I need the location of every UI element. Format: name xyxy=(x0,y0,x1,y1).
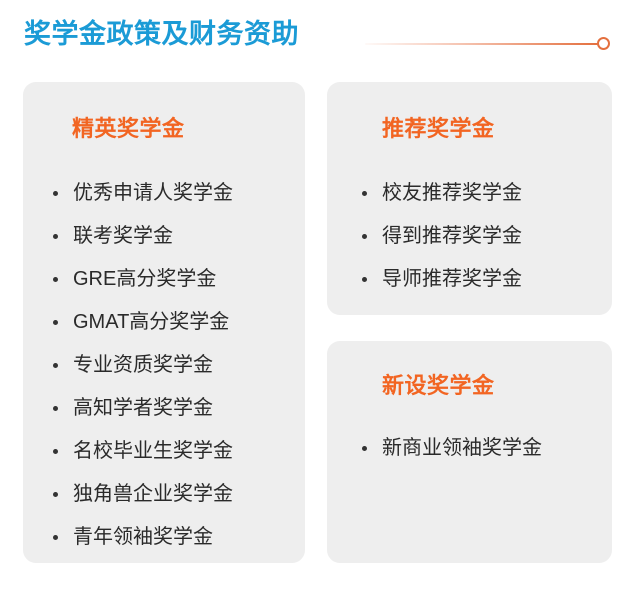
bullet-dot-icon xyxy=(53,234,58,239)
bullet-dot-icon xyxy=(53,535,58,540)
bullet-dot-icon xyxy=(53,277,58,282)
list-item: 优秀申请人奖学金 xyxy=(51,172,233,215)
bullet-dot-icon xyxy=(53,363,58,368)
card-heading-new: 新设奖学金 xyxy=(382,373,495,399)
card-elite-scholarship: 精英奖学金 优秀申请人奖学金 联考奖学金 GRE高分奖学金 GMAT高分奖学金 … xyxy=(23,82,305,563)
list-item-label: GRE高分奖学金 xyxy=(73,258,216,301)
list-item: 独角兽企业奖学金 xyxy=(51,473,233,516)
bullet-dot-icon xyxy=(362,234,367,239)
bullet-dot-icon xyxy=(53,406,58,411)
list-item: 新商业领袖奖学金 xyxy=(360,427,542,470)
list-item: 校友推荐奖学金 xyxy=(360,172,522,215)
list-item-label: 专业资质奖学金 xyxy=(73,344,213,387)
bullet-dot-icon xyxy=(53,320,58,325)
bullet-dot-icon xyxy=(53,191,58,196)
scholarship-list-new: 新商业领袖奖学金 xyxy=(360,427,542,470)
list-item-label: 独角兽企业奖学金 xyxy=(73,473,233,516)
page-header: 奖学金政策及财务资助 xyxy=(0,0,642,78)
list-item: GMAT高分奖学金 xyxy=(51,301,233,344)
bullet-dot-icon xyxy=(362,277,367,282)
scholarship-list-referral: 校友推荐奖学金 得到推荐奖学金 导师推荐奖学金 xyxy=(360,172,522,301)
list-item-label: 优秀申请人奖学金 xyxy=(73,172,233,215)
card-heading-referral: 推荐奖学金 xyxy=(382,116,495,142)
list-item: GRE高分奖学金 xyxy=(51,258,233,301)
list-item-label: 导师推荐奖学金 xyxy=(382,258,522,301)
card-new-scholarship: 新设奖学金 新商业领袖奖学金 xyxy=(327,341,612,563)
bullet-dot-icon xyxy=(53,492,58,497)
list-item-label: 新商业领袖奖学金 xyxy=(382,427,542,470)
list-item: 得到推荐奖学金 xyxy=(360,215,522,258)
list-item: 联考奖学金 xyxy=(51,215,233,258)
title-divider-line xyxy=(365,43,598,45)
scholarship-list-elite: 优秀申请人奖学金 联考奖学金 GRE高分奖学金 GMAT高分奖学金 专业资质奖学… xyxy=(51,172,233,559)
page-title: 奖学金政策及财务资助 xyxy=(24,17,299,51)
list-item-label: 青年领袖奖学金 xyxy=(73,516,213,559)
bullet-dot-icon xyxy=(362,446,367,451)
bullet-dot-icon xyxy=(362,191,367,196)
list-item: 专业资质奖学金 xyxy=(51,344,233,387)
list-item: 高知学者奖学金 xyxy=(51,387,233,430)
circle-outline-icon xyxy=(597,37,610,50)
list-item-label: 联考奖学金 xyxy=(73,215,173,258)
bullet-dot-icon xyxy=(53,449,58,454)
card-heading-elite: 精英奖学金 xyxy=(72,116,185,142)
list-item-label: 校友推荐奖学金 xyxy=(382,172,522,215)
list-item-label: 得到推荐奖学金 xyxy=(382,215,522,258)
list-item-label: 高知学者奖学金 xyxy=(73,387,213,430)
list-item-label: GMAT高分奖学金 xyxy=(73,301,229,344)
list-item: 名校毕业生奖学金 xyxy=(51,430,233,473)
list-item: 导师推荐奖学金 xyxy=(360,258,522,301)
list-item-label: 名校毕业生奖学金 xyxy=(73,430,233,473)
card-referral-scholarship: 推荐奖学金 校友推荐奖学金 得到推荐奖学金 导师推荐奖学金 xyxy=(327,82,612,315)
list-item: 青年领袖奖学金 xyxy=(51,516,233,559)
